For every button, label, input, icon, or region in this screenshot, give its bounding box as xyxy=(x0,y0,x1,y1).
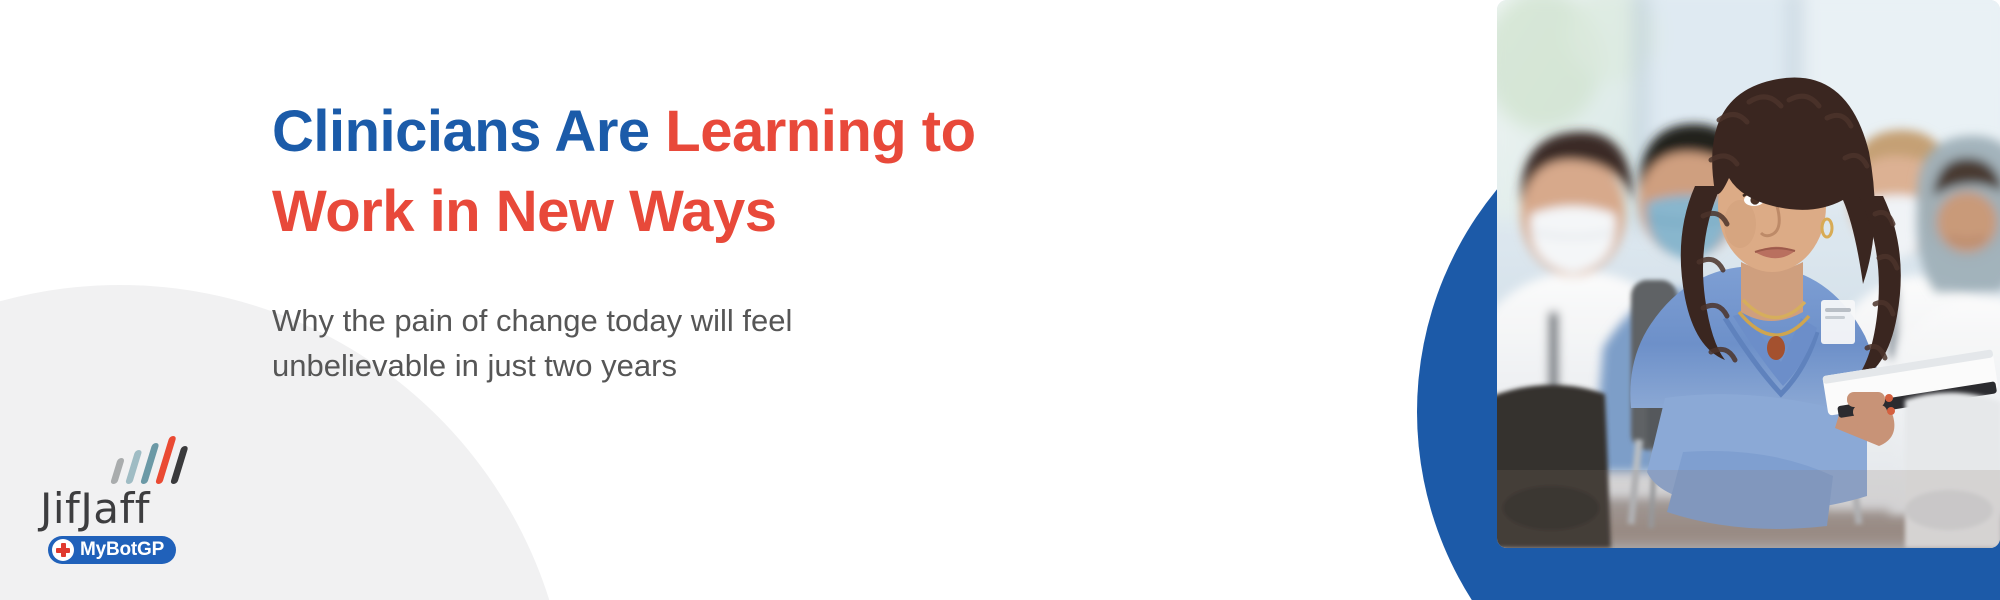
logo-wordmark: JifJaff xyxy=(40,488,220,530)
mybotgp-badge: MyBotGP xyxy=(48,536,176,564)
headline-part-blue: Clinicians Are xyxy=(272,99,665,164)
ascending-bars-icon xyxy=(106,436,226,484)
subheadline: Why the pain of change today will feel u… xyxy=(272,298,1072,389)
headline-part-red: Learning to xyxy=(665,99,975,164)
marketing-banner: Clinicians Are Learning to Work in New W… xyxy=(0,0,2000,600)
bar-1 xyxy=(110,458,125,484)
subheadline-line-2: unbelievable in just two years xyxy=(272,343,1072,388)
medical-cross-icon xyxy=(52,539,74,561)
subheadline-line-1: Why the pain of change today will feel xyxy=(272,298,1072,343)
hero-photo-illustration xyxy=(1497,0,2000,548)
headline-line-2: Work in New Ways xyxy=(272,172,1072,252)
bar-2 xyxy=(125,450,142,484)
banner-text-block: Clinicians Are Learning to Work in New W… xyxy=(272,92,1072,389)
hero-photo xyxy=(1497,0,2000,548)
badge-label: MyBotGP xyxy=(80,539,164,561)
headline: Clinicians Are Learning to Work in New W… xyxy=(272,92,1072,252)
bar-5 xyxy=(170,446,189,484)
headline-line-1: Clinicians Are Learning to xyxy=(272,92,1072,172)
brand-logo[interactable]: JifJaff MyBotGP xyxy=(40,436,220,566)
